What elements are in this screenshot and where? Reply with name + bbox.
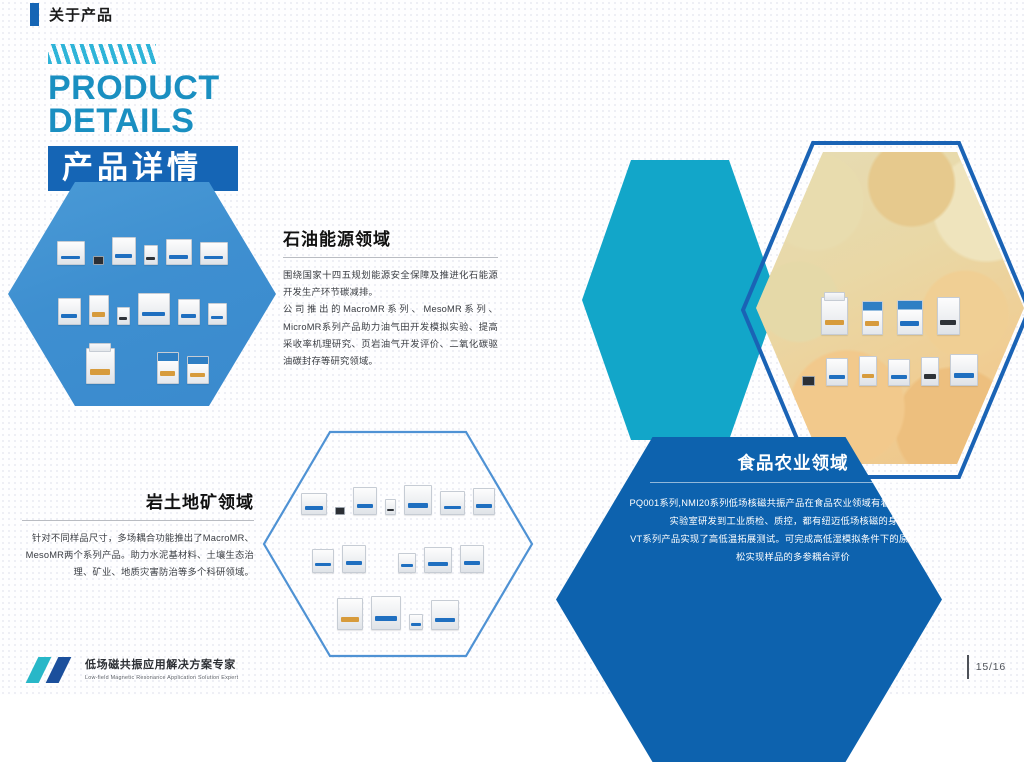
eyebrow-accent-bar (30, 3, 39, 26)
section-food-agriculture: 食品农业领域 PQ001系列,NMI20系列低场核磁共振产品在食品农业领域有着广… (628, 450, 958, 567)
instrument-unit (950, 354, 978, 386)
instrument-unit (301, 493, 327, 515)
section-title: 食品农业领域 (628, 450, 958, 475)
page-number-label: 15/16 (976, 661, 1006, 673)
instrument-unit (460, 545, 484, 573)
instrument-unit (440, 491, 465, 515)
instrument-unit (187, 356, 209, 384)
section-petroleum: 石油能源领域 围绕国家十四五规划能源安全保障及推进化石能源开发生产环节碳减排。 … (283, 225, 498, 370)
section-body: 围绕国家十四五规划能源安全保障及推进化石能源开发生产环节碳减排。 公司推出的Ma… (283, 267, 498, 370)
instrument-unit (937, 297, 960, 335)
section-body: PQ001系列,NMI20系列低场核磁共振产品在食品农业领域有着广泛的应用。从实… (628, 494, 958, 567)
title-line-1: PRODUCT (48, 72, 238, 105)
instrument-unit (144, 245, 158, 265)
petroleum-image-hexagon (8, 182, 276, 406)
logo-slashes-icon (30, 657, 76, 683)
title-line-2: DETAILS (48, 105, 238, 138)
eyebrow-label: 关于产品 (49, 4, 113, 25)
logo-tagline-cn: 低场磁共振应用解决方案专家 (85, 659, 238, 673)
instrument-unit (117, 307, 130, 325)
instrument-unit (888, 359, 910, 386)
geology-image-hexagon (262, 430, 534, 658)
instrument-unit (200, 242, 228, 265)
page-footer: 低场磁共振应用解决方案专家 Low-field Magnetic Resonan… (0, 635, 1024, 695)
logo-slash-navy (46, 657, 72, 683)
instrument-row (286, 458, 510, 515)
instrument-row (286, 573, 510, 630)
page-number: 15/16 (967, 655, 1006, 679)
instrument-unit (86, 348, 115, 384)
instrument-unit (473, 488, 495, 515)
section-body: 针对不同样品尺寸，多场耦合功能推出了MacroMR、MesoMR两个系列产品。助… (22, 530, 254, 582)
geology-instruments-photo (278, 446, 518, 642)
instrument-row (286, 515, 510, 572)
section-paragraph: 围绕国家十四五规划能源安全保障及推进化石能源开发生产环节碳减排。 (283, 267, 498, 301)
section-geology: 岩土地矿领域 针对不同样品尺寸，多场耦合功能推出了MacroMR、MesoMR两… (22, 488, 254, 582)
instrument-unit (157, 352, 179, 384)
page-title-cn: 产品详情 (62, 150, 220, 186)
instrument-unit (897, 300, 923, 335)
section-divider (650, 482, 936, 483)
instrument-unit (862, 301, 883, 335)
section-paragraph: PQ001系列,NMI20系列低场核磁共振产品在食品农业领域有着广泛的应用。从实… (628, 494, 958, 530)
logo-tagline-en: Low-field Magnetic Resonance Application… (85, 675, 238, 681)
instrument-unit (826, 358, 848, 386)
monitor-icon (802, 376, 815, 386)
instrument-unit (431, 600, 459, 630)
page-number-tick (967, 655, 969, 679)
instrument-unit (208, 303, 227, 325)
instrument-unit (342, 545, 366, 573)
section-title: 石油能源领域 (283, 225, 498, 250)
instrument-row (782, 335, 998, 386)
instrument-row (782, 284, 998, 335)
instrument-unit (404, 485, 432, 515)
section-paragraph: 公司推出的MacroMR系列、MesoMR系列、MicroMR系列产品助力油气田… (283, 301, 498, 370)
monitor-icon (93, 256, 104, 265)
page-title-en: PRODUCT DETAILS (48, 72, 238, 139)
instrument-unit (353, 487, 377, 515)
instrument-unit (57, 241, 85, 265)
instrument-unit (166, 239, 192, 265)
section-divider (283, 257, 498, 258)
company-logo: 低场磁共振应用解决方案专家 Low-field Magnetic Resonan… (30, 657, 238, 683)
petroleum-instruments-photo (8, 182, 276, 406)
instrument-unit (821, 297, 848, 335)
instrument-unit (424, 547, 452, 573)
instrument-unit (138, 293, 170, 325)
instrument-row (38, 265, 246, 324)
instrument-unit (312, 549, 334, 573)
instrument-row (38, 206, 246, 265)
instrument-unit (112, 237, 136, 265)
instrument-unit (178, 299, 200, 325)
page-title-block: PRODUCT DETAILS 产品详情 (48, 44, 238, 191)
instrument-row (38, 325, 246, 384)
diagonal-stripes-decor (48, 44, 156, 64)
instrument-unit (371, 596, 401, 630)
section-divider (22, 520, 254, 521)
instrument-unit (921, 357, 939, 386)
instrument-unit (58, 298, 81, 325)
section-paragraph: VT系列产品实现了高低温拓展测试。可完成高低湿模拟条件下的原位测试。轻松实现样品… (628, 530, 958, 566)
section-eyebrow: 关于产品 (30, 3, 113, 26)
instrument-unit (385, 499, 396, 515)
instrument-unit (409, 614, 423, 630)
logo-text: 低场磁共振应用解决方案专家 Low-field Magnetic Resonan… (85, 659, 238, 681)
monitor-icon (335, 507, 345, 515)
instrument-unit (337, 598, 363, 630)
instrument-unit (89, 295, 109, 325)
instrument-unit (859, 356, 877, 386)
section-paragraph: 针对不同样品尺寸，多场耦合功能推出了MacroMR、MesoMR两个系列产品。助… (22, 530, 254, 582)
section-title: 岩土地矿领域 (22, 488, 254, 513)
slide-stage: 关于产品 PRODUCT DETAILS 产品详情 (0, 0, 1024, 695)
instrument-unit (398, 553, 416, 573)
